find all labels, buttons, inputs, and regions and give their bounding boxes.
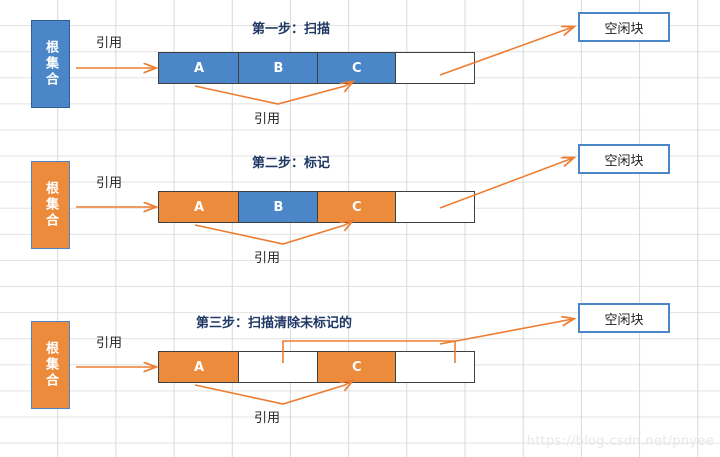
- memory-cell-b-step-1: B: [238, 52, 318, 84]
- free-block-label-step-2: 空闲块: [604, 150, 643, 169]
- reference-label-top-step-2: 引用: [96, 172, 122, 191]
- free-block-label-step-3: 空闲块: [604, 309, 643, 328]
- reference-label-bottom-step-1: 引用: [254, 108, 280, 127]
- step-title-1: 第一步：扫描: [252, 18, 330, 37]
- step-title-3: 第三步：扫描清除未标记的: [196, 312, 352, 331]
- reference-label-bottom-step-2: 引用: [254, 247, 280, 266]
- memory-cell-d-step-3: [395, 351, 475, 383]
- memory-cell-d-step-1: [395, 52, 475, 84]
- memory-cell-b-step-3: [238, 351, 318, 383]
- free-block-label-step-1: 空闲块: [604, 18, 643, 37]
- memory-strip-step-1: A B C: [158, 52, 478, 84]
- diagram-canvas: 根集合 引用 第一步：扫描 A B C 引用 空闲块 根集合 引用 第二步：标记…: [0, 0, 720, 457]
- memory-cell-d-step-2: [395, 191, 475, 223]
- reference-label-bottom-step-3: 引用: [254, 407, 280, 426]
- root-set-box-step-1: 根集合: [31, 20, 70, 108]
- memory-cell-a-step-3: A: [158, 351, 240, 383]
- memory-cell-c-step-3: C: [317, 351, 397, 383]
- root-set-label-step-3: 根集合: [41, 341, 60, 389]
- root-set-label-step-2: 根集合: [41, 181, 60, 229]
- memory-strip-step-2: A B C: [158, 191, 478, 223]
- reference-label-top-step-1: 引用: [96, 32, 122, 51]
- memory-cell-c-step-1: C: [317, 52, 397, 84]
- memory-cell-c-step-2: C: [317, 191, 397, 223]
- memory-cell-a-step-1: A: [158, 52, 240, 84]
- watermark-text: https://blog.csdn.net/pnyee: [527, 434, 714, 449]
- memory-strip-step-3: A C: [158, 351, 478, 383]
- memory-cell-a-step-2: A: [158, 191, 240, 223]
- step-title-2: 第二步：标记: [252, 152, 330, 171]
- root-set-label-step-1: 根集合: [41, 40, 60, 88]
- free-block-box-step-1: 空闲块: [578, 12, 670, 42]
- free-block-box-step-3: 空闲块: [578, 303, 670, 333]
- reference-label-top-step-3: 引用: [96, 332, 122, 351]
- memory-cell-b-step-2: B: [238, 191, 318, 223]
- root-set-box-step-2: 根集合: [31, 161, 70, 249]
- free-block-box-step-2: 空闲块: [578, 144, 670, 174]
- root-set-box-step-3: 根集合: [31, 321, 70, 409]
